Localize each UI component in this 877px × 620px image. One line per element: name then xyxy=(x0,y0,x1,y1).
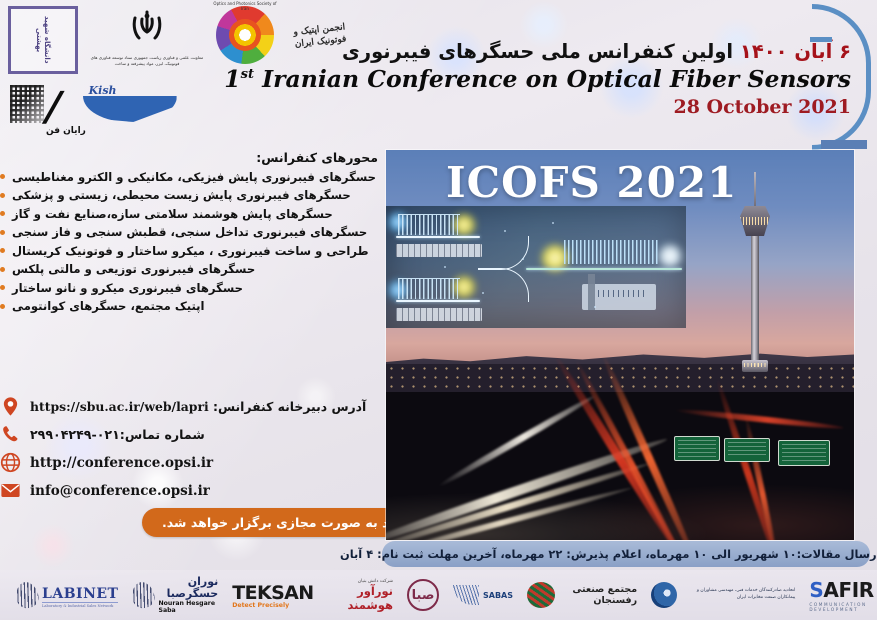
sbu-logo-label: دانشگاه شهید بهشتی xyxy=(35,9,51,71)
grating-element xyxy=(396,308,482,321)
grating-element xyxy=(396,244,482,257)
tower-mast xyxy=(754,172,756,208)
road-sign xyxy=(674,436,720,461)
output-waveform xyxy=(564,240,660,264)
tower-base xyxy=(742,360,768,372)
sabas-fan-icon xyxy=(453,585,479,605)
title-persian-main: اولین کنفرانس ملی حسگرهای فیبرنوری xyxy=(342,40,733,63)
title-ordinal-suffix: st xyxy=(241,67,254,82)
envelope-icon xyxy=(0,480,21,501)
tower-shaft xyxy=(751,236,759,364)
conference-title-block: ۶ آبان ۱۴۰۰ اولین کنفرانس ملی حسگرهای فی… xyxy=(224,40,851,118)
sponsor-engineering-services-association: اتحادیه صادرکنندگان خدمات فنی، مهندسی مش… xyxy=(651,575,795,615)
contact-email-address[interactable]: info@conference.opsi.ir xyxy=(30,483,210,499)
light-speck xyxy=(594,306,596,308)
bullet-icon xyxy=(0,193,5,198)
bullet-icon xyxy=(0,174,5,179)
safir-sublabel: COMMUNICATION DEVELOPMENT xyxy=(809,602,877,612)
topic-label: اپتیک مجتمع، حسگرهای کوانتومی xyxy=(12,299,205,313)
contact-address-label: آدرس دبیرخانه کنفرانس: xyxy=(213,399,366,414)
nouran-label-fa: نوران حسگرصبا xyxy=(158,576,218,600)
kish-mechatronics-logo: Kish Mechatronics xyxy=(83,82,183,126)
rayan-dots-icon xyxy=(10,85,44,123)
sabas-label: SABAS xyxy=(483,591,513,600)
topic-label: حسگرهای فیبرنوری پایش فیزیکی، مکانیکی و … xyxy=(12,170,376,184)
contact-address-text: آدرس دبیرخانه کنفرانس: https://sbu.ac.ir… xyxy=(30,399,366,414)
topic-item: طراحی و ساخت فیبرنوری ، میکرو ساختار و ف… xyxy=(0,239,390,258)
contact-phone-text: شماره تماس:۰۲۱-۲۹۹۰۴۲۴۹ xyxy=(30,427,205,442)
topic-label: طراحی و ساخت فیبرنوری ، میکرو ساختار و ف… xyxy=(12,244,369,258)
poster-header: دانشگاه شهید بهشتی معاونت علمی و فناوری … xyxy=(0,0,877,150)
icofs-overlay-title: ICOFS 2021 xyxy=(446,158,737,207)
waveguide-line xyxy=(396,236,480,238)
title-persian: ۶ آبان ۱۴۰۰ اولین کنفرانس ملی حسگرهای فی… xyxy=(224,40,851,63)
saba-circle-icon: صبا xyxy=(407,579,439,611)
topic-label: حسگرهای فیبرنوری توزیعی و مالتی پلکس xyxy=(12,262,255,276)
title-english-rest: Iranian Conference on Optical Fiber Sens… xyxy=(262,65,851,93)
rayan-fan-logo: / رایان فن xyxy=(10,85,61,123)
teksan-label: TEKSAN xyxy=(232,582,313,604)
chip-glow xyxy=(658,244,682,268)
contact-email-row: info@conference.opsi.ir xyxy=(0,480,390,501)
sponsor-sabas: SABAS xyxy=(453,575,513,615)
iran-emblem-icon xyxy=(88,10,206,50)
contact-section: آدرس دبیرخانه کنفرانس: https://sbu.ac.ir… xyxy=(0,396,390,501)
shahid-beheshti-university-logo: دانشگاه شهید بهشتی xyxy=(8,6,78,74)
waveguide-line xyxy=(396,300,480,302)
sponsors-row: LABINET Laboratory & Industrial Sales Ne… xyxy=(0,570,877,620)
topic-item: حسگرهای فیبرنوری پایش زیست محیطی، زیستی … xyxy=(0,184,390,203)
tower-pod xyxy=(740,206,770,236)
contact-phone-label: شماره تماس: xyxy=(120,427,205,442)
sponsor-nouran-hesgare-saba: نوران حسگرصبا Nouran Hesgare Saba xyxy=(132,575,218,615)
rayan-slash-icon: / xyxy=(42,91,65,123)
title-ordinal: 1 xyxy=(224,65,240,93)
sponsor-nooravar-hooshmand: شرکت دانش بنیان نورآور هوشمند xyxy=(328,575,393,615)
waveguide-output xyxy=(526,268,682,270)
submission-deadline-bar: زمان ارسال مقالات:۱۰ شهریور الی ۱۰ مهرما… xyxy=(382,541,870,567)
globe-icon xyxy=(0,452,21,473)
light-speck xyxy=(504,230,506,232)
road-sign xyxy=(778,440,830,466)
waveguide-bend xyxy=(478,236,529,270)
serpentine-waveguide xyxy=(398,278,460,299)
conference-poster: دانشگاه شهید بهشتی معاونت علمی و فناوری … xyxy=(0,0,877,620)
nouran-label-en: Nouran Hesgare Saba xyxy=(158,600,218,614)
safir-label-b: AFIR xyxy=(823,578,873,602)
waveguide-bend xyxy=(478,268,529,302)
photonic-chip-illustration xyxy=(386,206,686,328)
light-speck xyxy=(444,266,446,268)
labinet-mark-icon xyxy=(14,580,41,610)
milad-tower xyxy=(738,172,772,372)
sponsor-safir: SAFIR COMMUNICATION DEVELOPMENT xyxy=(809,575,877,615)
conference-topics-section: محورهای کنفرانس: حسگرهای فیبرنوری پایش ف… xyxy=(0,150,390,313)
topic-item: حسگرهای پایش هوشمند سلامتی سازه،صنایع نف… xyxy=(0,202,390,221)
serpentine-waveguide xyxy=(398,214,460,235)
sponsor-labinet: LABINET Laboratory & Industrial Sales Ne… xyxy=(16,575,118,615)
topic-item: حسگرهای فیبرنوری پایش فیزیکی، مکانیکی و … xyxy=(0,165,390,184)
topics-heading: محورهای کنفرانس: xyxy=(0,150,390,165)
phone-icon xyxy=(0,424,21,445)
contact-phone-value: ۰۲۱-۲۹۹۰۴۲۴۹ xyxy=(30,427,120,442)
bullet-icon xyxy=(0,304,5,309)
rayan-fan-label: رایان فن xyxy=(46,126,86,136)
organizer-logos-row-2: / رایان فن Kish Mechatronics xyxy=(10,82,183,126)
bullet-icon xyxy=(0,285,5,290)
light-speck xyxy=(522,258,524,260)
topic-item: حسگرهای فیبرنوری تداخل سنجی، قطبش سنجی و… xyxy=(0,221,390,240)
decorative-bracket-foot xyxy=(821,140,867,149)
kish-swoosh-icon xyxy=(83,96,177,122)
association-orb-icon xyxy=(651,582,677,608)
light-trail-white xyxy=(386,460,650,540)
decorative-bracket xyxy=(812,4,871,150)
topic-label: حسگرهای فیبرنوری پایش زیست محیطی، زیستی … xyxy=(12,188,351,202)
highway-night-scene xyxy=(386,392,854,540)
rafsanjan-label: مجتمع صنعتی رفسنجان xyxy=(559,584,637,606)
contact-website-url[interactable]: http://conference.opsi.ir xyxy=(30,455,213,471)
sponsor-saba: صبا xyxy=(407,575,439,615)
contact-address-row: آدرس دبیرخانه کنفرانس: https://sbu.ac.ir… xyxy=(0,396,390,417)
light-trail-red xyxy=(674,407,844,431)
association-label: اتحادیه صادرکنندگان خدمات فنی، مهندسی مش… xyxy=(681,588,795,601)
road-sign xyxy=(724,438,770,462)
iran-presidency-logo: معاونت علمی و فناوری ریاست جمهوری ستاد ت… xyxy=(88,6,206,68)
light-speck xyxy=(482,292,484,294)
hero-photo: ICOFS 2021 xyxy=(386,150,854,540)
nooravar-label: نورآور هوشمند xyxy=(328,584,393,612)
contact-phone-row: شماره تماس:۰۲۱-۲۹۹۰۴۲۴۹ xyxy=(0,424,390,445)
title-english: 1st Iranian Conference on Optical Fiber … xyxy=(224,65,851,93)
sponsor-rafsanjan-industrial-complex: مجتمع صنعتی رفسنجان xyxy=(527,575,637,615)
iran-presidency-caption: معاونت علمی و فناوری ریاست جمهوری ستاد ت… xyxy=(88,55,206,68)
topic-item: اپتیک مجتمع، حسگرهای کوانتومی xyxy=(0,295,390,314)
topic-item: حسگرهای فیبرنوری توزیعی و مالتی پلکس xyxy=(0,258,390,277)
location-pin-icon xyxy=(0,396,21,417)
bullet-icon xyxy=(0,248,5,253)
nouran-mark-icon xyxy=(130,580,157,610)
bullet-icon xyxy=(0,267,5,272)
contact-website-row: http://conference.opsi.ir xyxy=(0,452,390,473)
bullet-icon xyxy=(0,230,5,235)
deadline-text: زمان ارسال مقالات:۱۰ شهریور الی ۱۰ مهرما… xyxy=(340,547,877,561)
topic-item: حسگرهای فیبرنوری میکرو و نانو ساختار xyxy=(0,276,390,295)
topic-label: حسگرهای فیبرنوری تداخل سنجی، قطبش سنجی و… xyxy=(12,225,367,239)
light-speck xyxy=(552,222,554,224)
topic-label: حسگرهای فیبرنوری میکرو و نانو ساختار xyxy=(12,281,243,295)
safir-label-a: S xyxy=(809,578,823,602)
contact-address-url[interactable]: https://sbu.ac.ir/web/lapri xyxy=(30,399,209,414)
labinet-sublabel: Laboratory & Industrial Sales Network xyxy=(42,602,118,608)
bullet-icon xyxy=(0,211,5,216)
labinet-label: LABINET xyxy=(42,586,118,602)
conference-date-english: 28 October 2021 xyxy=(224,96,851,118)
rafsanjan-logo-icon xyxy=(527,582,555,608)
topic-label: حسگرهای پایش هوشمند سلامتی سازه،صنایع نف… xyxy=(12,207,333,221)
sponsor-teksan: TEKSAN Detect Precisely xyxy=(232,575,313,615)
safir-label: SAFIR xyxy=(809,578,873,602)
